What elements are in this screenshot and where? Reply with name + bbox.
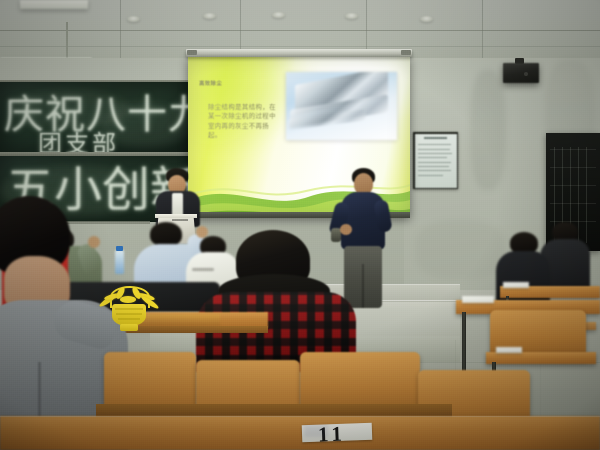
paper-on-right-desk	[503, 282, 529, 288]
basket-rib	[115, 308, 143, 310]
lectern-label	[172, 219, 188, 221]
lamp-suspension-rod	[66, 22, 68, 62]
ceiling-panel-line	[482, 0, 483, 62]
classroom-presentation-photo: 庆祝八十九周年 团支部 五小创新 高效除尘 除尘结构是其结构，在某一次除尘机的过…	[0, 0, 600, 450]
ceiling-downlight-icon	[345, 13, 358, 19]
slide-title: 高效除尘	[199, 80, 222, 87]
ceiling-downlight-icon	[420, 16, 433, 22]
wall-stain	[470, 70, 506, 190]
basket-petal	[120, 296, 136, 303]
front-desk-edge	[0, 416, 600, 417]
projector-screen-housing	[186, 49, 412, 57]
speaker-cone-icon	[524, 72, 528, 76]
slide-body-text: 除尘结构是其结构，在某一次除尘机的过程中室内再的灰尘不再扬起。	[208, 103, 281, 141]
ceiling-seam	[0, 30, 600, 31]
desk-right-c	[486, 352, 596, 364]
ceiling-downlight-icon	[272, 12, 285, 18]
presenter-trouser-seam	[362, 264, 364, 308]
basket-rib	[118, 318, 140, 320]
front-desk-surface	[0, 416, 600, 450]
paper-sheet-right	[462, 296, 494, 303]
ceiling-seam	[0, 46, 600, 47]
ceiling-downlight-icon	[127, 16, 140, 22]
ceiling-fluorescent-lamp	[20, 0, 88, 9]
wall-stain	[415, 220, 505, 280]
speaker-icon	[503, 63, 539, 83]
ceiling-downlight-icon	[203, 13, 216, 19]
framed-notice	[413, 132, 458, 189]
paper-printed-lines	[304, 426, 328, 436]
slide-photo	[286, 72, 397, 140]
paper-sheet-right-2	[496, 347, 522, 353]
lectern-top	[155, 214, 197, 218]
basket-base	[120, 324, 138, 331]
yellow-flower-basket	[96, 288, 162, 334]
audience-lightblue-hair	[150, 222, 182, 246]
ceiling-panel-line	[120, 0, 121, 62]
blackboard-upper: 庆祝八十九周年 团支部	[0, 82, 188, 154]
basket-rib	[116, 313, 142, 315]
person-audience-plaid	[196, 230, 356, 372]
